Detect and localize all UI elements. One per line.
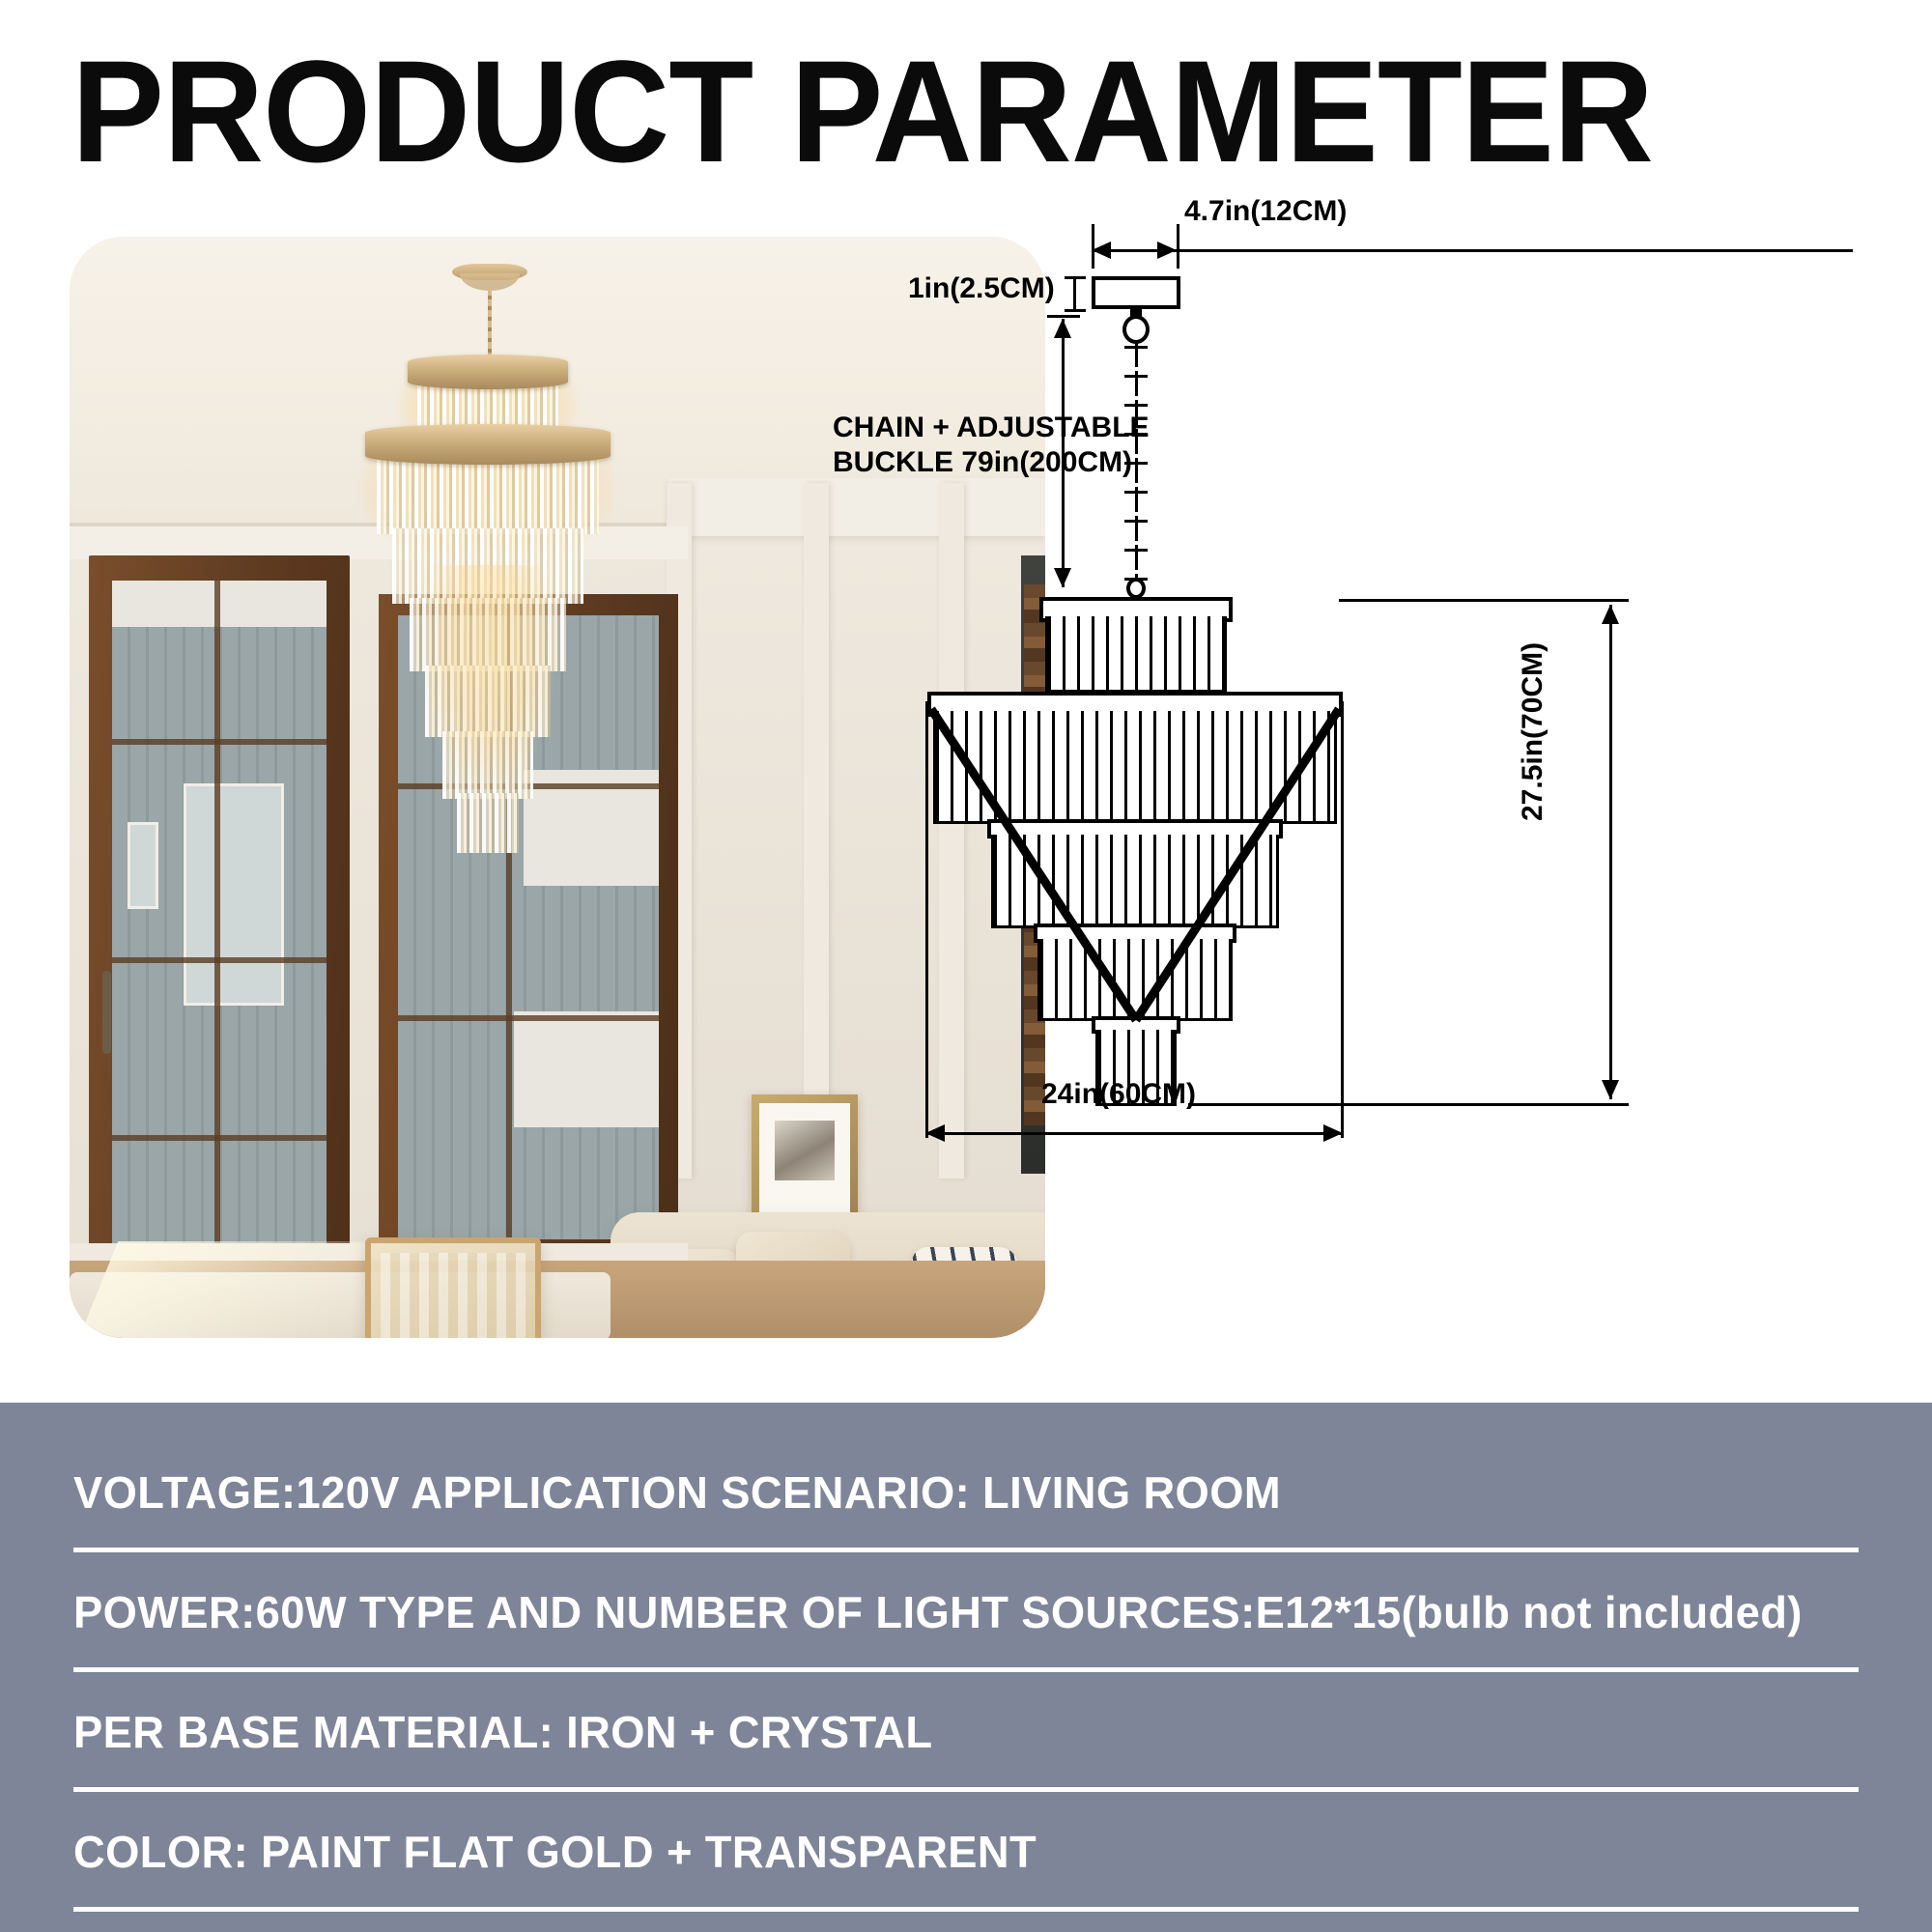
arrow-left-icon [925,1124,945,1142]
arrow-right-icon [1323,1124,1343,1142]
ext-line-height-top [1339,599,1629,602]
leader-line-canopy [1177,249,1853,252]
neighbor-window-small [128,822,158,909]
arrow-up-icon [1602,605,1619,624]
light-glow [421,565,556,797]
artwork-image [775,1121,835,1180]
arrow-right-icon [1157,241,1177,259]
neighbor-window [184,783,284,1006]
hanging-loop [1122,315,1150,344]
ext-line-canopy-right [1177,224,1179,269]
canopy-width-label: 4.7in(12CM) [1184,195,1347,228]
spec-row-color: COLOR: PAINT FLAT GOLD + TRANSPARENT [73,1826,1037,1878]
spec-row-voltage: VOLTAGE:120V APPLICATION SCENARIO: LIVIN… [73,1466,1281,1519]
arrow-down-icon [1602,1080,1619,1099]
hanging-chain [488,289,492,360]
canopy-height-label: 1in(2.5CM) [908,272,1055,305]
dimension-drawing: 4.7in(12CM) 1in(2.5CM) CHAIN + ADJUSTABL… [1063,222,1855,1343]
tick-chain-top [1047,315,1080,318]
page-title: PRODUCT PARAMETER [71,39,1653,184]
lantern-interior [381,1253,526,1338]
door-muntin-h3 [112,1135,327,1141]
fixture-ring [408,355,568,389]
dim-line-width [925,1132,1343,1135]
door-handle[interactable] [102,971,111,1054]
chandelier-fixture [328,246,647,923]
fixture-ring [365,424,611,465]
spec-divider [73,1787,1859,1792]
door-muntin-vertical [214,581,220,1295]
dim-line-height [1609,605,1612,1099]
soffit [668,478,1045,536]
wall-beam-mid [804,483,829,1179]
window-view-white2 [514,1011,659,1127]
ext-line-width-right [1341,701,1344,1138]
arrow-left-icon [1092,241,1111,259]
arrow-down-icon [1054,568,1071,587]
arrow-up-icon [1054,319,1071,338]
crystal-tier [377,453,599,534]
spec-row-material: PER BASE MATERIAL: IRON + CRYSTAL [73,1706,932,1758]
spec-divider [73,1548,1859,1552]
fixture-width-label: 24in(60CM) [1041,1078,1196,1111]
spec-row-power: POWER:60W TYPE AND NUMBER OF LIGHT SOURC… [73,1586,1803,1638]
ext-line-width-left [925,701,928,1138]
spec-divider [73,1667,1859,1672]
spec-divider [73,1907,1859,1912]
tick-canopy-bottom [1065,309,1086,312]
window-muntin-h2 [398,1015,659,1021]
chain-label-line1: CHAIN + ADJUSTABLE [833,412,1150,444]
dim-line-canopy-height [1073,276,1076,311]
taper-line-right [1130,705,1352,1024]
fixture-height-label: 27.5in(70CM) [1517,642,1549,821]
specification-panel: VOLTAGE:120V APPLICATION SCENARIO: LIVIN… [0,1403,1932,1932]
ext-line-height-bottom [1188,1103,1629,1106]
canopy-plate [1092,276,1180,309]
sunlight-patch [79,1241,408,1338]
crystal-tier [457,793,519,853]
product-photo [70,237,1045,1338]
chain-label-line2: BUCKLE 79in(200CM) [833,446,1132,479]
door-muntin-h1 [112,739,327,745]
tier-prisms-1 [1045,616,1227,692]
door-muntin-h2 [112,957,327,963]
